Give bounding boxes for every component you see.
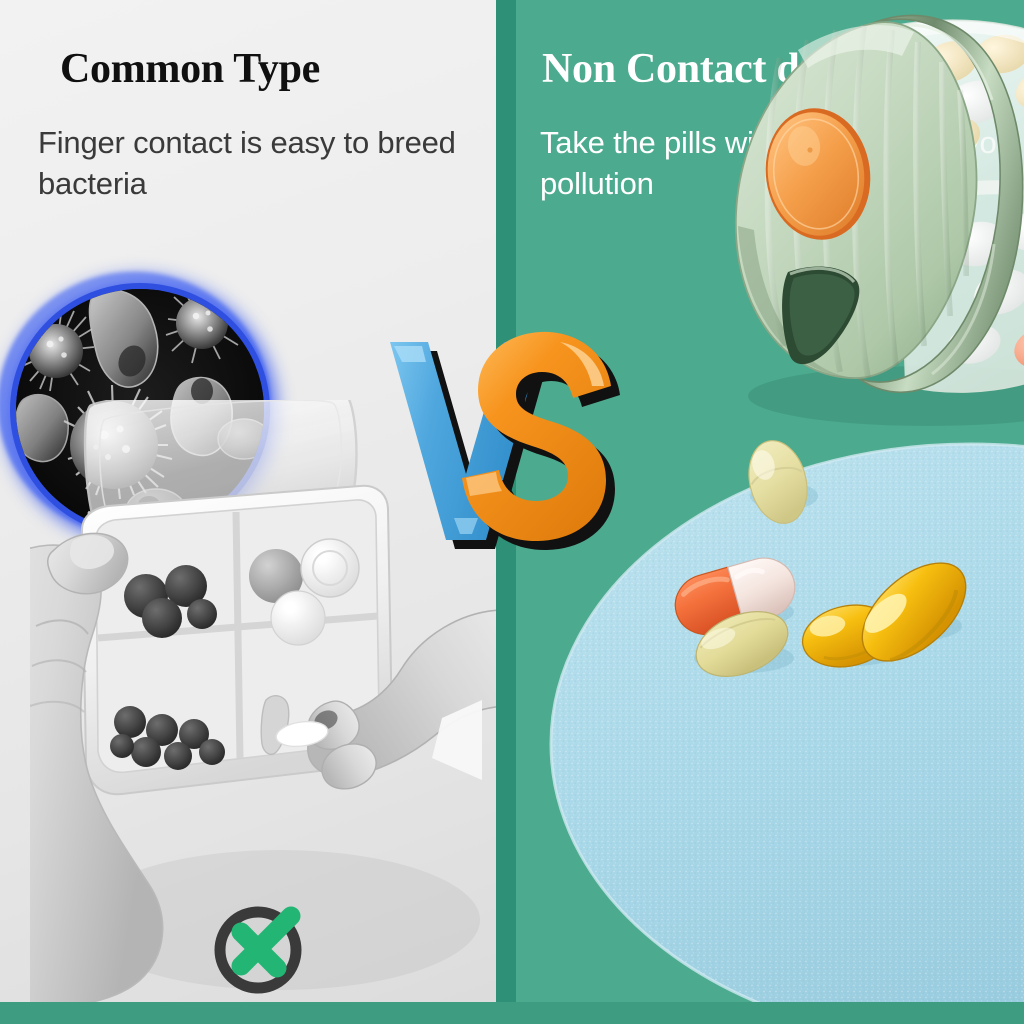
cross-mark-icon: [220, 912, 296, 988]
bottom-accent-bar: [0, 1002, 1024, 1024]
cross-mark-badge: [208, 898, 312, 998]
loose-pills: [616, 400, 1024, 690]
left-panel-headline: Common Type: [60, 45, 320, 93]
infographic-canvas: Common Type Finger contact is easy to br…: [0, 0, 1024, 1024]
pill-dispenser-product: [658, 4, 1024, 424]
left-panel-subline: Finger contact is easy to breed bacteria: [38, 123, 488, 205]
vs-badge: [368, 328, 628, 554]
